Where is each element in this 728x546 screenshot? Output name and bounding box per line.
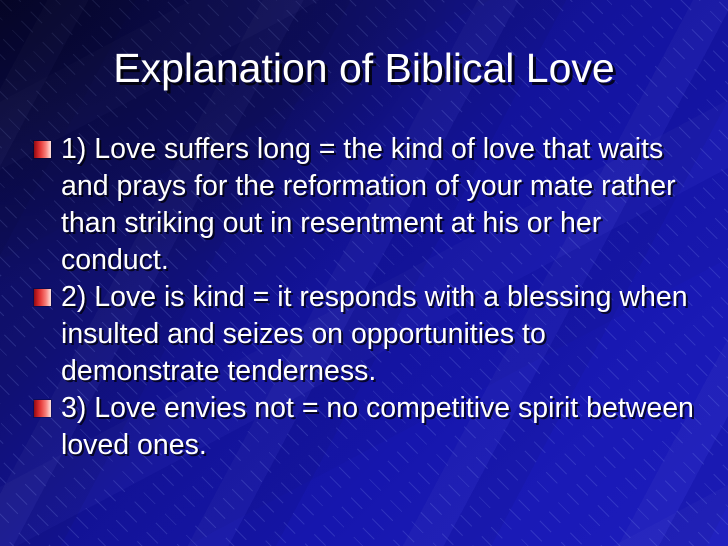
bullet-item: 1) Love suffers long = the kind of love … [34, 131, 706, 279]
slide-title: Explanation of Biblical Love [0, 44, 728, 92]
bullet-item-text: 2) Love is kind = it responds with a ble… [61, 279, 706, 390]
bullet-item-text: 1) Love suffers long = the kind of love … [61, 131, 706, 279]
square-bullet-icon [34, 141, 51, 158]
square-bullet-icon [34, 400, 51, 417]
bullet-item: 3) Love envies not = no competitive spir… [34, 390, 706, 464]
slide-bullet-list: 1) Love suffers long = the kind of love … [34, 131, 706, 464]
square-bullet-icon [34, 289, 51, 306]
presentation-slide: Explanation of Biblical Love 1) Love suf… [0, 0, 728, 546]
bullet-item: 2) Love is kind = it responds with a ble… [34, 279, 706, 390]
bullet-item-text: 3) Love envies not = no competitive spir… [61, 390, 706, 464]
slide-content: Explanation of Biblical Love 1) Love suf… [0, 0, 728, 546]
